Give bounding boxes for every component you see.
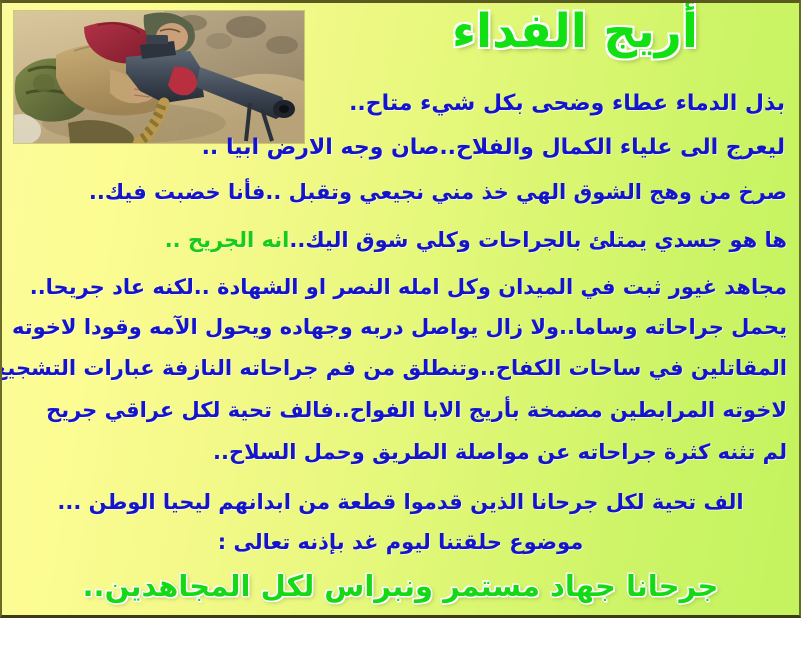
body-line-6: يحمل جراحاته وساما..ولا زال يواصل دربه و…	[12, 315, 787, 339]
body-line-1: بذل الدماء عطاء وضحى بكل شيء متاح..	[349, 91, 785, 116]
body-line-3: صرخ من وهج الشوق الهي خذ مني نجيعي وتقبل…	[89, 180, 787, 204]
body-line-10: الف تحية لكل جرحانا الذين قدموا قطعة من …	[2, 490, 799, 514]
body-line-11: موضوع حلقتنا ليوم غد بإذنه تعالى :	[2, 530, 799, 554]
body-line-4-highlight: انه الجريح ..	[165, 228, 290, 252]
body-line-4: ها هو جسدي يمتلئ بالجراحات وكلي شوق اليك…	[165, 228, 787, 252]
poster-canvas: أريج الفداء بذل الدماء عطاء وضحى بكل شيء…	[0, 0, 801, 618]
closing-banner: جرحانا جهاد مستمر ونبراس لكل المجاهدين..	[2, 569, 799, 603]
body-line-8: لاخوته المرابطين مضمخة بأريج الابا الفوا…	[46, 398, 787, 422]
fighter-photo	[14, 11, 304, 143]
bottom-white-margin	[0, 618, 801, 649]
body-line-9: لم تثنه كثرة جراحاته عن مواصلة الطريق وح…	[213, 440, 787, 464]
body-line-5: مجاهد غيور ثبت في الميدان وكل امله النصر…	[30, 275, 787, 299]
body-line-4-text: ها هو جسدي يمتلئ بالجراحات وكلي شوق اليك…	[289, 228, 787, 252]
body-line-7: المقاتلين في ساحات الكفاح..وتنطلق من فم …	[0, 356, 787, 380]
body-line-2: ليعرج الى علياء الكمال والفلاح..صان وجه …	[202, 135, 785, 160]
page-title: أريج الفداء	[365, 7, 785, 56]
photo-illustration	[14, 11, 304, 143]
